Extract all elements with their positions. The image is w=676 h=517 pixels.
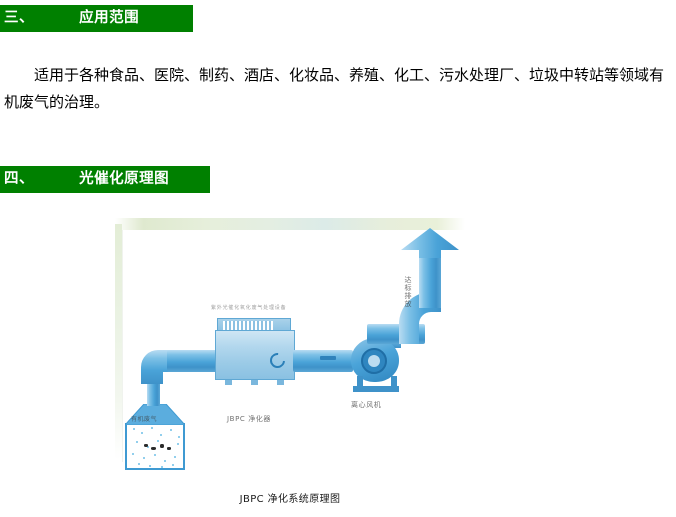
figure-label-purifier: JBPC 净化器: [227, 414, 271, 424]
scope-paragraph: 适用于各种食品、医院、制药、酒店、化妆品、养殖、化工、污水处理厂、垃圾中转站等领…: [4, 62, 676, 116]
purifier-leg: [225, 380, 232, 385]
main-inlet-duct: [167, 350, 220, 372]
fan-shaft: [368, 355, 380, 367]
section-title-scope: 应用范围: [79, 5, 139, 32]
jbpc-purifier-unit: [215, 318, 295, 380]
purifier-logo-icon: [267, 350, 288, 371]
figure-label-stack: 达标排放: [403, 276, 413, 308]
section-number-3: 三、: [4, 5, 34, 32]
section-number-4: 四、: [4, 166, 34, 193]
discharge-stack: [419, 252, 441, 308]
section-banner-scope: 三、 应用范围: [0, 5, 193, 32]
purifier-leg: [251, 380, 258, 385]
purifier-leg: [277, 380, 284, 385]
purifier-body: [215, 330, 295, 380]
exhaust-collection-box: [125, 423, 185, 470]
section-banner-diagram: 四、 光催化原理图: [0, 166, 210, 193]
figure-label-fan: 离心风机: [351, 400, 381, 410]
figure-caption: JBPC 净化系统原理图: [115, 490, 465, 505]
duct-flange: [320, 356, 336, 360]
fan-leg: [357, 376, 363, 386]
figure-block: 紫外光催化氧化废气处理设备 有机废气 JBPC 净化器 离心风机 达标排放 JB…: [115, 218, 465, 508]
discharge-arrow-icon: [401, 228, 459, 258]
image-left-gradient-band: [115, 224, 122, 460]
fan-base-plate: [353, 386, 399, 392]
purification-system-diagram: 紫外光催化氧化废气处理设备 有机废气 JBPC 净化器 离心风机 达标排放: [115, 218, 465, 486]
figure-label-hood: 有机废气: [131, 414, 157, 423]
fan-leg: [391, 376, 397, 386]
section-title-diagram: 光催化原理图: [79, 166, 169, 193]
purifier-outlet-duct: [293, 350, 353, 372]
figure-label-device-top: 紫外光催化氧化废气处理设备: [211, 304, 286, 311]
